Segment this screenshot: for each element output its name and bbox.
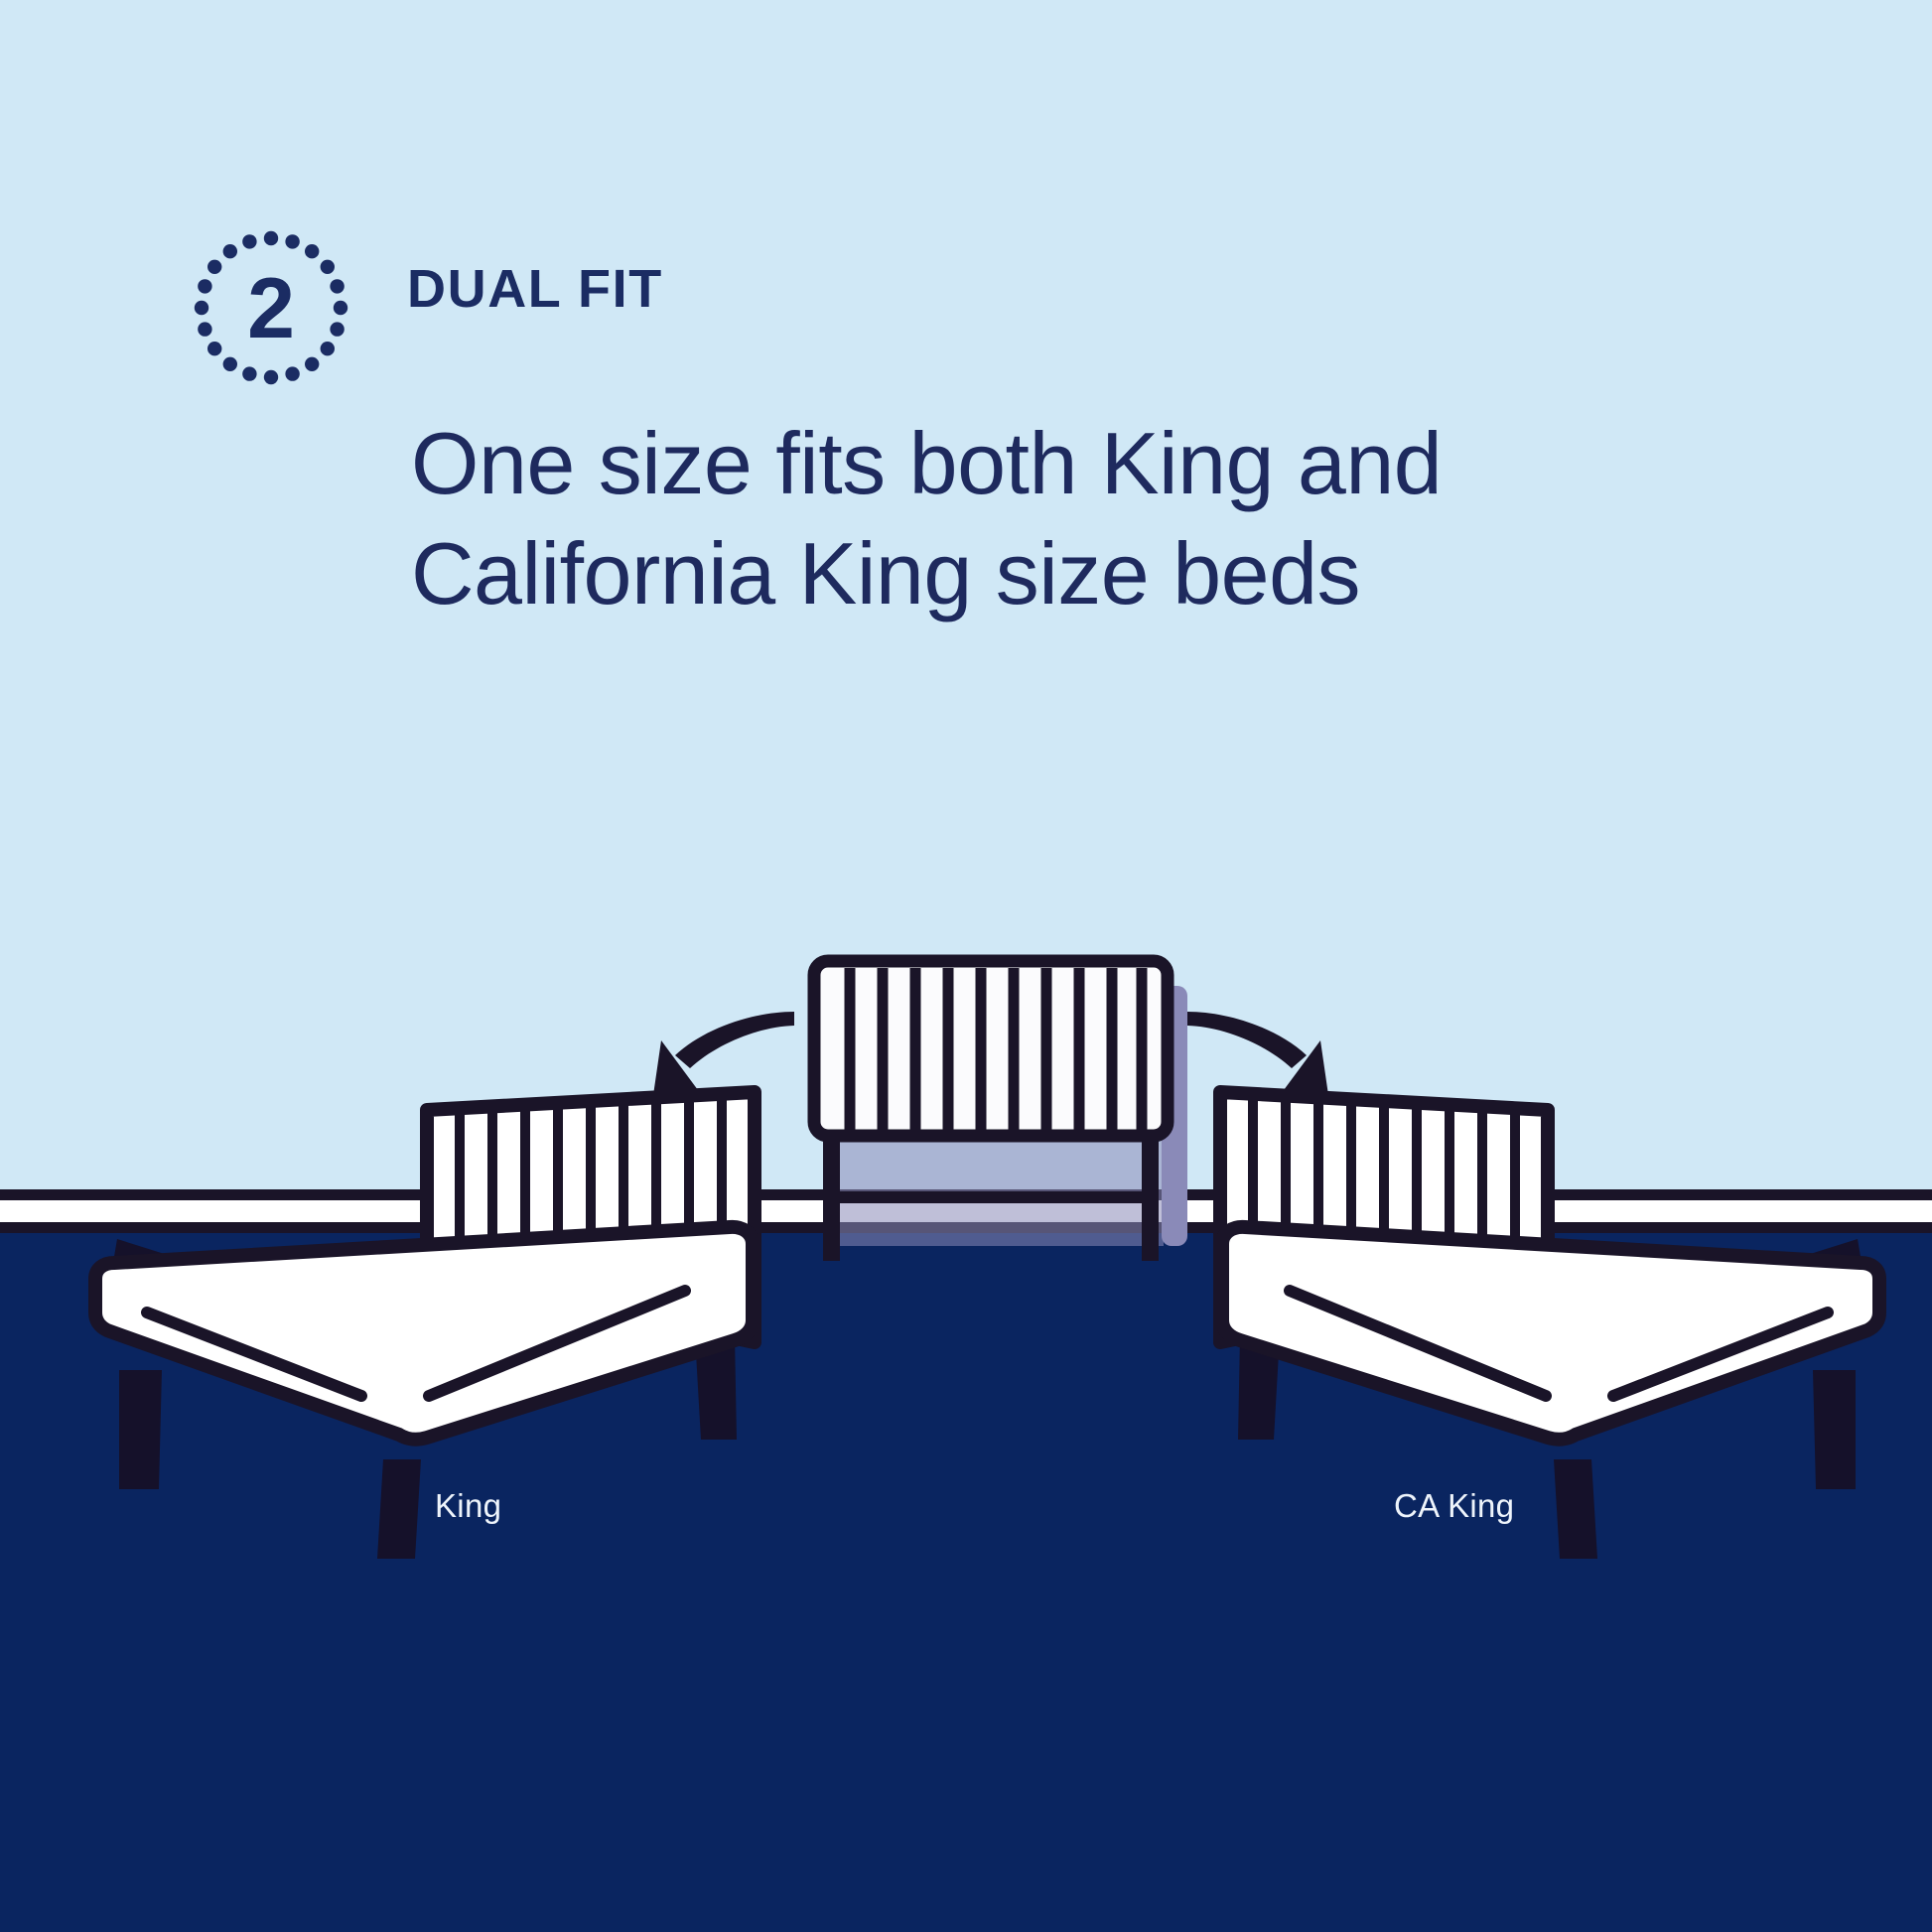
right-bed-leg-front-center — [1554, 1459, 1597, 1559]
left-bed-label: King — [435, 1487, 501, 1525]
headline: One size fits both King and California K… — [411, 409, 1662, 629]
headline-line-2: California King size beds — [411, 519, 1662, 629]
headline-line-1: One size fits both King and — [411, 414, 1442, 512]
step-number-text: 2 — [247, 261, 295, 356]
center-headboard-icon — [814, 961, 1187, 1261]
eyebrow-label: DUAL FIT — [407, 262, 663, 316]
right-bed-label: CA King — [1394, 1487, 1514, 1525]
illustration-card: 2 DUAL FIT One size fits both King and C… — [0, 0, 1932, 1932]
center-headboard-rail — [823, 1191, 1159, 1203]
left-bed-leg-front-center — [377, 1459, 421, 1559]
right-bed-leg-front-right — [1813, 1370, 1856, 1489]
step-badge: 2 — [194, 230, 348, 385]
left-bed-leg-front-left — [119, 1370, 162, 1489]
center-headboard-under-shadow — [832, 1125, 1164, 1246]
